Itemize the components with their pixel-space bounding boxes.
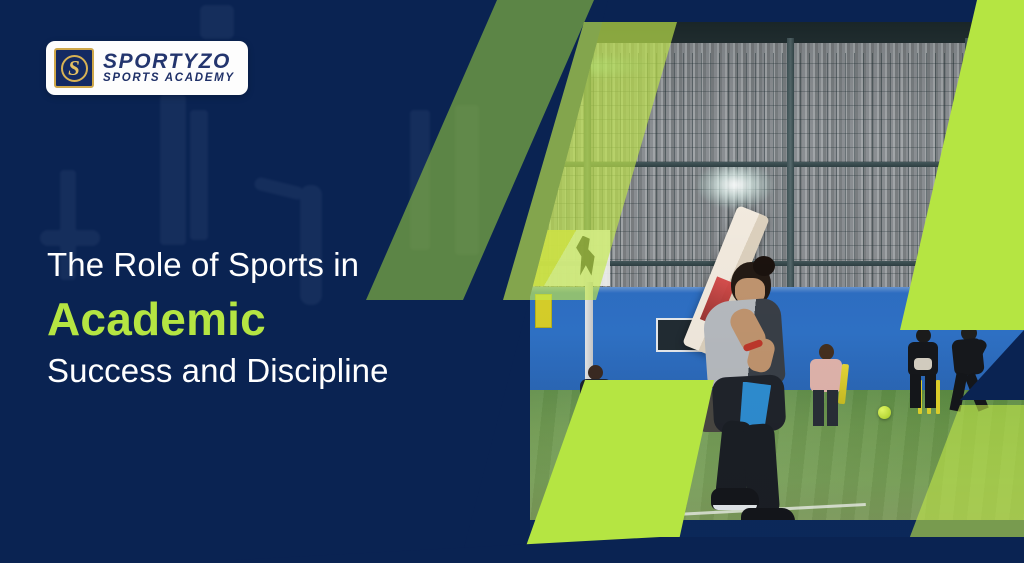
logo-s-glyph: S [68, 58, 80, 79]
ceiling-light-icon [698, 162, 772, 208]
logo-tagline: SPORTS ACADEMY [103, 73, 235, 85]
headline-block: The Role of Sports in Academic Success a… [47, 243, 477, 394]
headline-line-2: Success and Discipline [47, 349, 477, 393]
keeper-gloves-icon [914, 358, 932, 370]
headline-line-1: The Role of Sports in [47, 243, 477, 287]
sportyzo-monogram-icon: S [54, 48, 94, 88]
logo-brand-name: SPORTYZO [103, 51, 235, 72]
blog-banner: S SPORTYZO SPORTS ACADEMY The Role of Sp… [0, 0, 1024, 563]
bowler-figure [945, 323, 995, 415]
headline-accent-word: Academic [47, 291, 477, 347]
logo-wordmark: SPORTYZO SPORTS ACADEMY [103, 51, 235, 85]
wicket-keeper-figure [903, 328, 943, 412]
sportyzo-logo[interactable]: S SPORTYZO SPORTS ACADEMY [46, 41, 248, 95]
